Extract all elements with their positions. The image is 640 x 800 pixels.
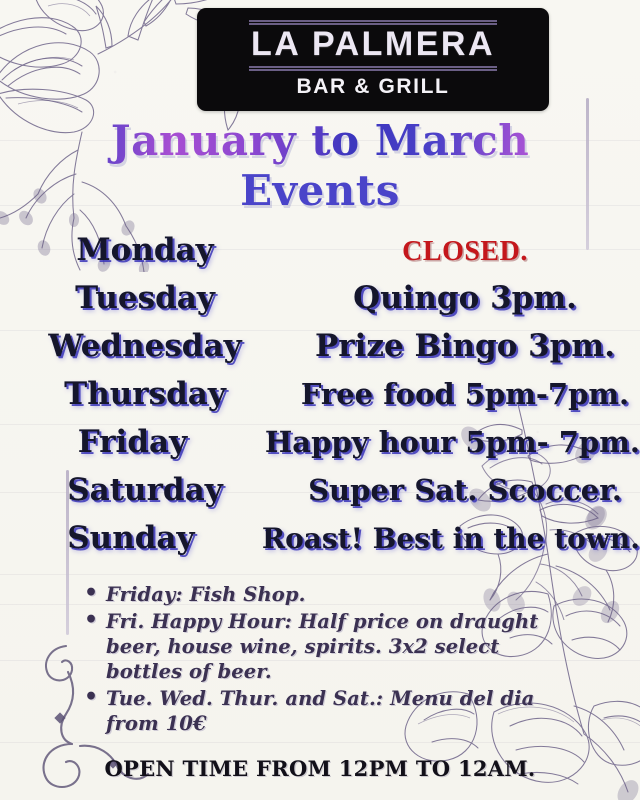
schedule-day: Sunday: [0, 520, 262, 556]
schedule-event: Prize Bingo 3pm.: [290, 328, 640, 364]
poster-heading: January to March Events: [0, 116, 640, 216]
schedule-row: Sunday Roast! Best in the town.: [0, 520, 640, 568]
schedule-day: Friday: [0, 424, 265, 460]
paper-rule: [0, 742, 640, 743]
schedule-row: Thursday Free food 5pm-7pm.: [0, 376, 640, 424]
heading-line-1: January to March: [0, 116, 640, 166]
schedule-row: Saturday Super Sat. Scoccer.: [0, 472, 640, 520]
schedule-row: Tuesday Quingo 3pm.: [0, 280, 640, 328]
schedule-event: Roast! Best in the town.: [262, 522, 640, 555]
heading-line-2: Events: [0, 166, 640, 216]
schedule-day: Saturday: [0, 472, 290, 508]
schedule-day: Tuesday: [0, 280, 290, 316]
schedule-event: Quingo 3pm.: [290, 280, 640, 316]
schedule-day: Thursday: [0, 376, 290, 412]
schedule-row: Monday CLOSED.: [0, 232, 640, 280]
logo-name: LA PALMERA: [251, 27, 495, 63]
schedule-row: Friday Happy hour 5pm- 7pm.: [0, 424, 640, 472]
schedule-event: Super Sat. Scoccer.: [290, 473, 640, 507]
poster-canvas: LA PALMERA BAR & GRILL January to March …: [0, 0, 640, 800]
list-item: Fri. Happy Hour: Half price on draught b…: [84, 609, 544, 684]
logo-banner: LA PALMERA BAR & GRILL: [197, 8, 549, 111]
schedule-event: Free food 5pm-7pm.: [290, 377, 640, 411]
opening-hours-text: OPEN TIME FROM 12PM TO 12AM.: [0, 756, 640, 781]
logo-rule-bottom: [249, 66, 497, 71]
logo-subtitle: BAR & GRILL: [297, 75, 450, 99]
list-item: Tue. Wed. Thur. and Sat.: Menu del dia f…: [84, 686, 544, 736]
weekly-schedule: Monday CLOSED. Tuesday Quingo 3pm. Wedne…: [0, 232, 640, 568]
paper-rule: [0, 574, 640, 575]
schedule-row: Wednesday Prize Bingo 3pm.: [0, 328, 640, 376]
list-item: Friday: Fish Shop.: [84, 582, 544, 607]
schedule-day: Wednesday: [0, 328, 290, 364]
offers-list: Friday: Fish Shop. Fri. Happy Hour: Half…: [84, 582, 544, 738]
schedule-day: Monday: [0, 232, 290, 268]
schedule-event: Happy hour 5pm- 7pm.: [265, 425, 640, 459]
schedule-event: CLOSED.: [290, 236, 640, 268]
